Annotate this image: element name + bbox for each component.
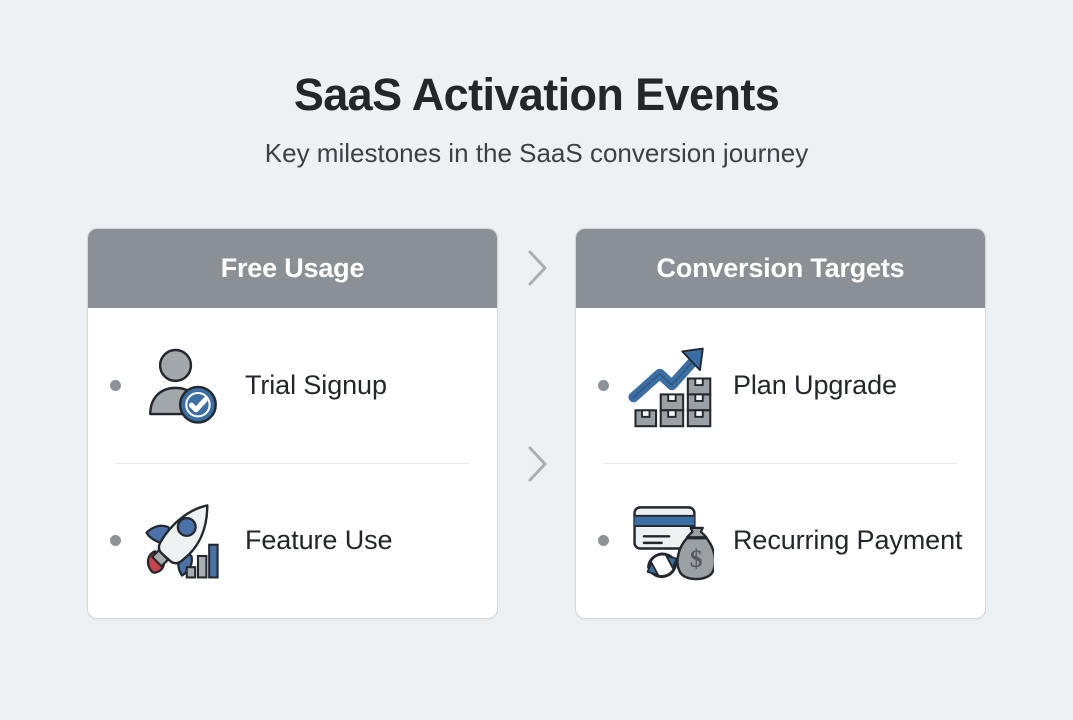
page-subtitle: Key milestones in the SaaS conversion jo… xyxy=(0,138,1073,169)
card-header-free-usage: Free Usage xyxy=(88,229,497,308)
bullet-dot-icon xyxy=(598,535,609,546)
rocket-chart-icon xyxy=(137,495,229,587)
user-check-icon xyxy=(137,340,229,432)
list-item-trial-signup[interactable]: Trial Signup xyxy=(88,308,497,463)
list-item-label: Trial Signup xyxy=(245,368,387,404)
connector-column xyxy=(498,228,575,619)
list-item-feature-use[interactable]: Feature Use xyxy=(88,463,497,618)
card-refresh-moneybag-icon: $ xyxy=(625,495,717,587)
columns-board: Free Usage xyxy=(0,228,1073,619)
card-header-conversion-targets: Conversion Targets xyxy=(576,229,985,308)
card-body-free-usage: Trial Signup xyxy=(88,308,497,618)
chevron-right-icon xyxy=(522,443,552,485)
list-item-plan-upgrade[interactable]: Plan Upgrade xyxy=(576,308,985,463)
card-header-label: Conversion Targets xyxy=(657,253,905,284)
list-item-label: Feature Use xyxy=(245,523,392,559)
bullet-dot-icon xyxy=(110,380,121,391)
page-header: SaaS Activation Events Key milestones in… xyxy=(0,0,1073,169)
bullet-dot-icon xyxy=(598,380,609,391)
card-conversion-targets: Conversion Targets xyxy=(575,228,986,619)
card-free-usage: Free Usage xyxy=(87,228,498,619)
page-title: SaaS Activation Events xyxy=(0,70,1073,120)
growth-arrow-boxes-icon xyxy=(625,340,717,432)
svg-text:$: $ xyxy=(690,546,703,573)
card-body-conversion-targets: Plan Upgrade xyxy=(576,308,985,618)
list-item-label: Plan Upgrade xyxy=(733,368,897,404)
chevron-right-icon xyxy=(522,247,552,289)
card-header-label: Free Usage xyxy=(221,253,365,284)
bullet-dot-icon xyxy=(110,535,121,546)
list-item-recurring-payment[interactable]: $ Recurring Payment xyxy=(576,463,985,618)
list-item-label: Recurring Payment xyxy=(733,523,962,559)
infographic-canvas: SaaS Activation Events Key milestones in… xyxy=(0,0,1073,720)
